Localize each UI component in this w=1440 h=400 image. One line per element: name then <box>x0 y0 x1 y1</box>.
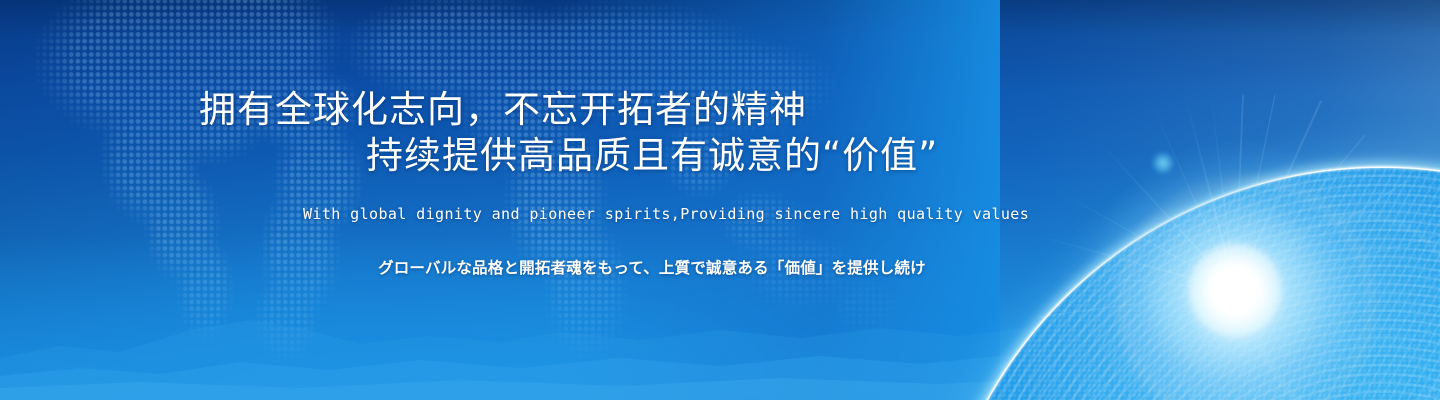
banner-copy: 拥有全球化志向，不忘开拓者的精神 持续提供高品质且有诚意的“价值” With g… <box>0 0 1440 400</box>
hero-banner: 拥有全球化志向，不忘开拓者的精神 持续提供高品质且有诚意的“价值” With g… <box>0 0 1440 400</box>
subtitle-english: With global dignity and pioneer spirits,… <box>303 207 1029 222</box>
headline-line-1: 拥有全球化志向，不忘开拓者的精神 <box>199 91 807 128</box>
headline-line-2: 持续提供高品质且有诚意的“价值” <box>366 137 938 174</box>
subtitle-japanese: グローバルな品格と開拓者魂をもって、上質で誠意ある「価値」を提供し続け <box>378 261 926 277</box>
